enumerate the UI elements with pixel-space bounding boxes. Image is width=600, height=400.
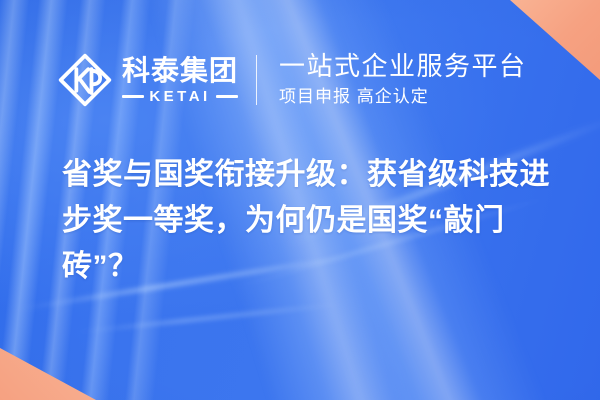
dash-left-icon bbox=[122, 95, 144, 98]
tagline-sub: 项目申报 高企认定 bbox=[279, 87, 527, 107]
banner-header: 科泰集团 KETAI 一站式企业服务平台 项目申报 高企认定 bbox=[0, 44, 600, 116]
tagline-main: 一站式企业服务平台 bbox=[279, 52, 527, 82]
promo-banner: 科泰集团 KETAI 一站式企业服务平台 项目申报 高企认定 省奖与国奖衔接升级… bbox=[0, 0, 600, 400]
brand-name-en: KETAI bbox=[149, 89, 210, 104]
page-title: 省奖与国奖衔接升级：获省级科技进步奖一等奖，为何仍是国奖“敲门砖”？ bbox=[62, 152, 562, 290]
dash-right-icon bbox=[216, 95, 238, 98]
brand-logo[interactable]: 科泰集团 KETAI bbox=[58, 53, 238, 107]
brand-name-en-row: KETAI bbox=[122, 89, 238, 104]
brand-wordmark: 科泰集团 KETAI bbox=[122, 56, 238, 104]
vertical-divider-icon bbox=[256, 55, 257, 105]
brand-tagline: 一站式企业服务平台 项目申报 高企认定 bbox=[279, 52, 527, 107]
ketai-kp-monogram-icon bbox=[58, 53, 112, 107]
brand-name-cn: 科泰集团 bbox=[122, 56, 238, 86]
